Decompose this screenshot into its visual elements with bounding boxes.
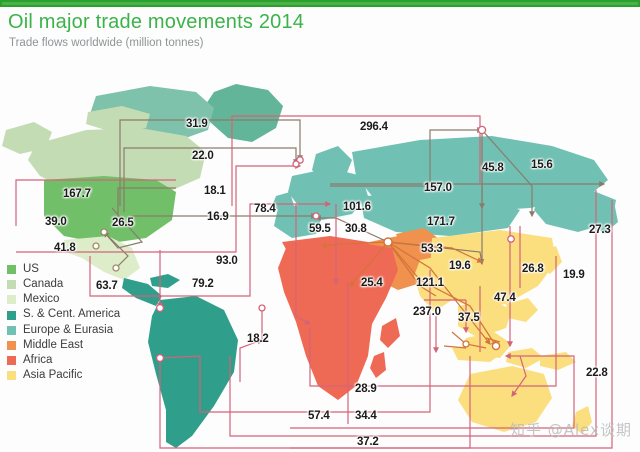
- flow-value-label: 41.8: [54, 242, 76, 254]
- legend-swatch-icon: [7, 295, 16, 304]
- legend-swatch-icon: [7, 265, 16, 274]
- flow-value-label: 37.2: [357, 436, 379, 448]
- infographic-root: Oil major trade movements 2014 Trade flo…: [0, 0, 640, 452]
- flow-value-label: 59.5: [309, 223, 331, 235]
- legend-swatch-icon: [7, 326, 16, 335]
- legend-item: US: [7, 262, 147, 277]
- legend-swatch-icon: [7, 371, 16, 380]
- flow-value-label: 53.3: [421, 243, 443, 255]
- flow-value-label: 19.9: [563, 269, 585, 281]
- legend-item-label: S. & Cent. America: [23, 309, 120, 321]
- legend-item: Middle East: [7, 338, 147, 353]
- legend-item-label: Asia Pacific: [23, 370, 82, 382]
- flow-value-label: 47.4: [494, 292, 516, 304]
- legend-item-label: Europe & Eurasia: [23, 325, 113, 337]
- world-map: [0, 56, 640, 452]
- flow-value-label: 78.4: [254, 203, 276, 215]
- top-accent-bar: [0, 0, 640, 7]
- top-accent-bar-inner: [2, 2, 638, 5]
- flow-value-label: 121.1: [416, 277, 444, 289]
- watermark: 知乎 @Alex谈期: [510, 419, 632, 440]
- flow-value-label: 39.0: [45, 216, 67, 228]
- flow-value-label: 31.9: [186, 118, 208, 130]
- legend: USCanadaMexicoS. & Cent. AmericaEurope &…: [7, 262, 147, 384]
- flow-value-label: 101.6: [343, 201, 371, 213]
- legend-swatch-icon: [7, 311, 16, 320]
- flow-value-label: 18.1: [204, 185, 226, 197]
- flow-value-label: 37.5: [458, 312, 480, 324]
- page-subtitle: Trade flows worldwide (million tonnes): [9, 37, 204, 49]
- flow-value-label: 26.8: [522, 263, 544, 275]
- flow-value-label: 93.0: [216, 255, 238, 267]
- legend-item: S. & Cent. America: [7, 308, 147, 323]
- legend-item: Mexico: [7, 292, 147, 307]
- legend-item-label: Mexico: [23, 294, 59, 306]
- legend-item-label: Africa: [23, 355, 52, 367]
- legend-item-label: US: [23, 264, 39, 276]
- flow-value-label: 25.4: [361, 277, 383, 289]
- flow-value-label: 28.9: [355, 383, 377, 395]
- flow-value-label: 15.6: [531, 159, 553, 171]
- flow-value-label: 26.5: [112, 217, 134, 229]
- flow-value-label: 34.4: [355, 410, 377, 422]
- flow-value-label: 30.8: [345, 223, 367, 235]
- flow-value-label: 16.9: [207, 211, 229, 223]
- legend-swatch-icon: [7, 341, 16, 350]
- flow-value-label: 57.4: [308, 410, 330, 422]
- page-title: Oil major trade movements 2014: [8, 11, 304, 34]
- flow-value-label: 45.8: [482, 162, 504, 174]
- flow-value-label: 237.0: [413, 306, 441, 318]
- legend-item: Europe & Eurasia: [7, 323, 147, 338]
- flow-value-label: 27.3: [589, 224, 611, 236]
- legend-item-label: Middle East: [23, 340, 83, 352]
- legend-swatch-icon: [7, 356, 16, 365]
- legend-item: Africa: [7, 353, 147, 368]
- flow-value-label: 22.8: [586, 367, 608, 379]
- flow-value-label: 171.7: [427, 216, 455, 228]
- flow-value-label: 157.0: [424, 182, 452, 194]
- flow-value-label: 22.0: [192, 150, 214, 162]
- flow-value-label: 19.6: [449, 260, 471, 272]
- flow-value-label: 18.2: [247, 333, 269, 345]
- flow-value-label: 296.4: [360, 121, 388, 133]
- legend-swatch-icon: [7, 280, 16, 289]
- flow-value-label: 79.2: [192, 278, 214, 290]
- legend-item-label: Canada: [23, 279, 63, 291]
- flow-value-label: 167.7: [63, 188, 91, 200]
- legend-item: Canada: [7, 277, 147, 292]
- legend-item: Asia Pacific: [7, 368, 147, 383]
